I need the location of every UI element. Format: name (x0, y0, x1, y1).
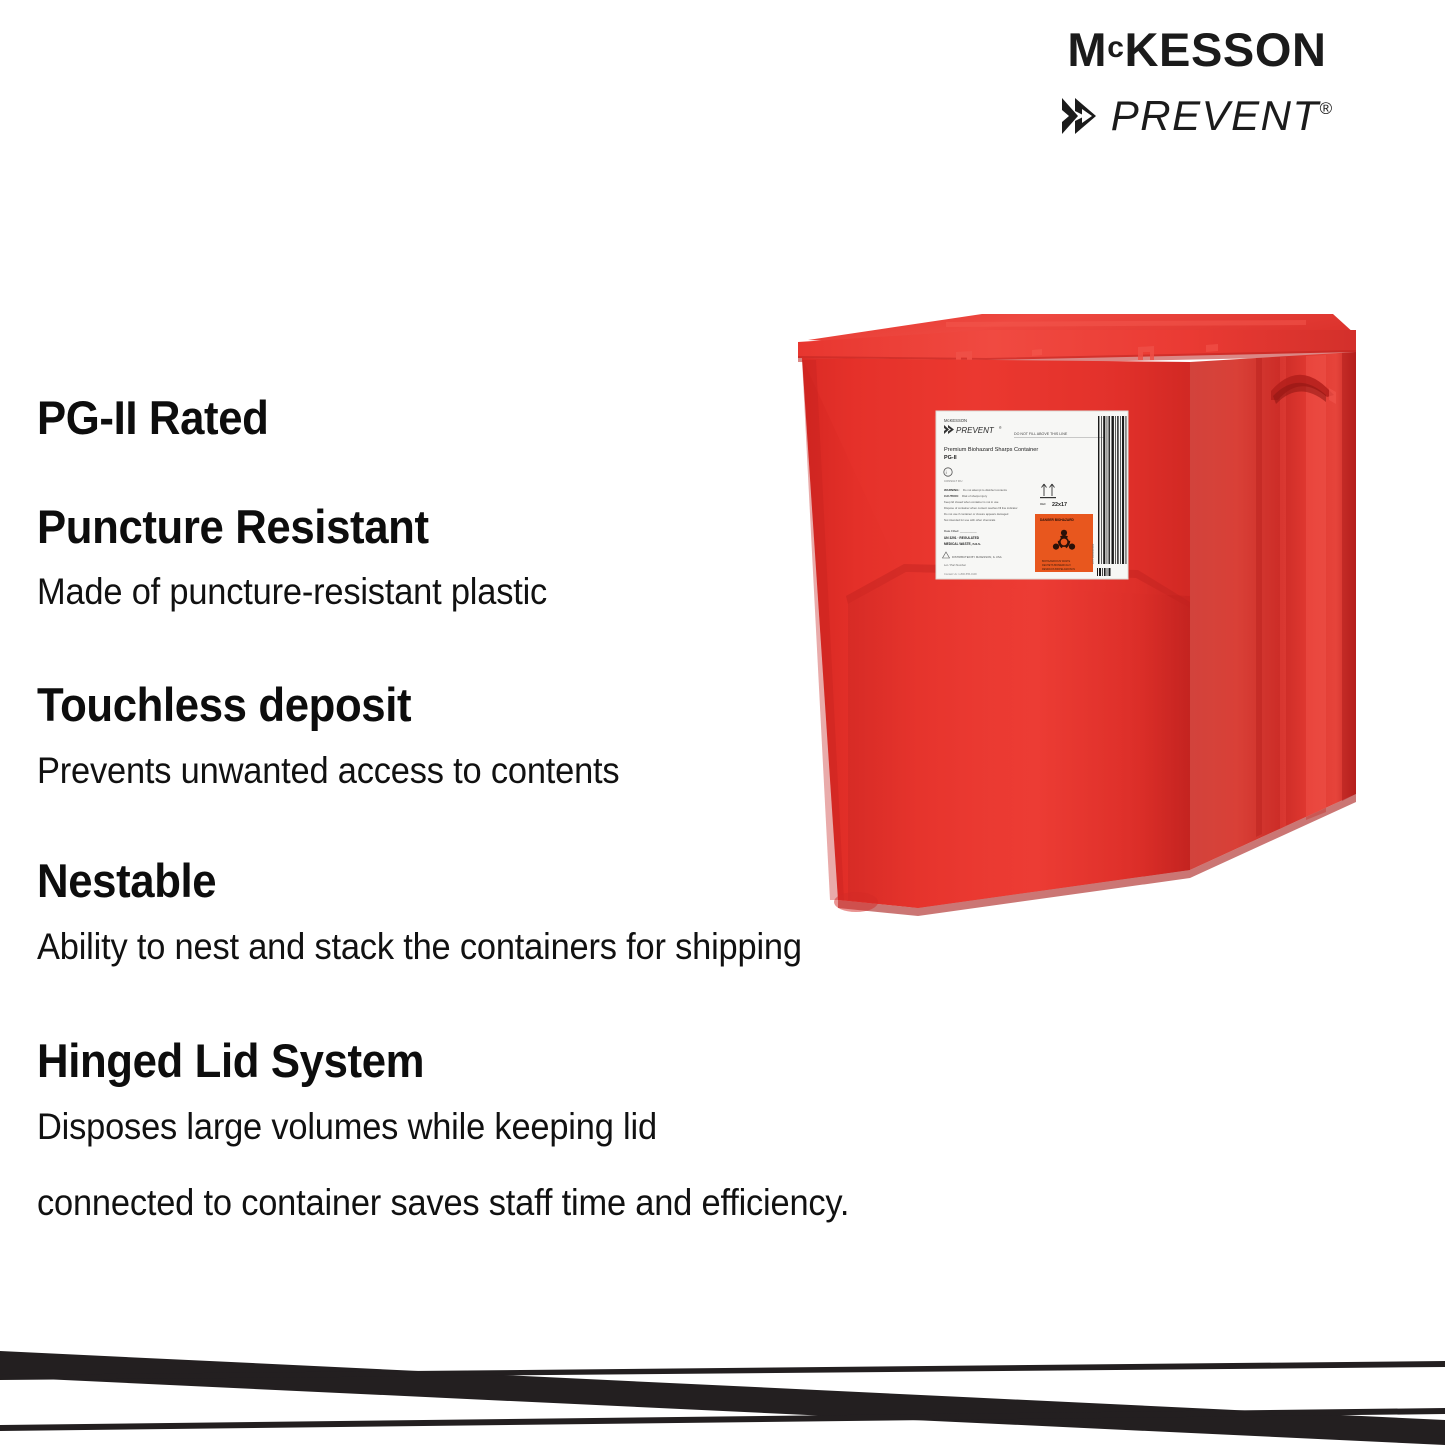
svg-text:WARNING:: WARNING: (944, 488, 960, 492)
svg-text:McKESSON: McKESSON (944, 418, 967, 423)
svg-text:Contact Us: 1-800-555-0100: Contact Us: 1-800-555-0100 (944, 572, 977, 576)
svg-text:22x17: 22x17 (1052, 502, 1067, 508)
prevent-text: PREVENT (1111, 92, 1320, 139)
svg-text:Risk of sharps injury: Risk of sharps injury (962, 494, 988, 498)
svg-text:DO NOT FILL ABOVE THIS LINE: DO NOT FILL ABOVE THIS LINE (1014, 432, 1068, 436)
decorative-diagonal-lines (0, 1330, 1445, 1445)
svg-text:Dispose of container when cont: Dispose of container when content reache… (944, 506, 1018, 510)
biohazard-sticker: DANGER BIOHAZARD (1035, 514, 1093, 572)
container-body-side (1190, 352, 1356, 870)
svg-text:Do not attempt to disinfect co: Do not attempt to disinfect contents (963, 488, 1007, 492)
mckesson-small-c: c (1107, 31, 1124, 64)
svg-text:RESIDUOS BIOPELIGROSOS: RESIDUOS BIOPELIGROSOS (1042, 568, 1075, 571)
double-chevron-icon (1062, 96, 1104, 136)
feature-description: Disposes large volumes while keeping lid… (37, 1100, 1023, 1229)
feature-hinged-lid-system: Hinged Lid System Disposes large volumes… (37, 1035, 1097, 1229)
prevent-logo-row: PREVENT® (1037, 95, 1357, 137)
container-lid (798, 314, 1356, 364)
svg-text:Keep lid closed when container: Keep lid closed when container is not in… (944, 500, 999, 504)
svg-text:Lot / Part Number: Lot / Part Number (944, 563, 966, 567)
feature-description-line-2: connected to container saves staff time … (37, 1176, 1023, 1230)
svg-text:PG-II: PG-II (944, 455, 957, 461)
registered-mark: ® (1320, 99, 1333, 118)
feature-title: Hinged Lid System (37, 1035, 1023, 1088)
svg-text:Date Filled: __________: Date Filled: __________ (944, 529, 977, 533)
svg-text:DISTRIBUTED BY McKESSON, IL US: DISTRIBUTED BY McKESSON, IL USA (952, 555, 1002, 559)
mckesson-wordmark: McKESSON (1037, 26, 1357, 73)
svg-text:Not intended for use with othe: Not intended for use with other chemical… (944, 518, 996, 522)
product-label: McKESSON PREVENT ® DO NOT FILL ABOVE THI… (936, 411, 1128, 579)
svg-text:CAUTION:: CAUTION: (944, 494, 959, 498)
svg-text:REF: REF (1040, 502, 1046, 506)
svg-text:DECHETS BIOMEDICAUX: DECHETS BIOMEDICAUX (1042, 564, 1071, 567)
svg-text:i: i (946, 470, 947, 475)
svg-text:CONSULT IFU: CONSULT IFU (944, 479, 962, 483)
brand-logo-block: McKESSON PREVENT® (1037, 26, 1357, 137)
svg-text:MEDICAL WASTE, n.o.s.: MEDICAL WASTE, n.o.s. (944, 542, 981, 546)
prevent-wordmark: PREVENT® (1111, 95, 1332, 137)
mckesson-suffix: KESSON (1124, 23, 1326, 76)
product-image-sharps-container: McKESSON PREVENT ® DO NOT FILL ABOVE THI… (786, 296, 1370, 956)
svg-text:DANGER BIOHAZARD: DANGER BIOHAZARD (1040, 518, 1075, 522)
mckesson-m: M (1067, 23, 1107, 76)
svg-text:UN 3291 · REGULATED: UN 3291 · REGULATED (944, 536, 980, 540)
svg-text:PREVENT: PREVENT (956, 426, 995, 435)
svg-text:Do not use if container or clo: Do not use if container or closure appea… (944, 512, 1009, 516)
svg-text:LOT 0000000000: LOT 0000000000 (1091, 543, 1095, 564)
svg-text:BIOHAZARDOUS WASTE: BIOHAZARDOUS WASTE (1042, 560, 1071, 563)
svg-text:Premium Biohazard Sharps Conta: Premium Biohazard Sharps Container (944, 447, 1038, 453)
infographic-page: McKESSON PREVENT® PG-II Rated Puncture R… (0, 0, 1445, 1445)
feature-description-line-1: Disposes large volumes while keeping lid (37, 1106, 657, 1147)
